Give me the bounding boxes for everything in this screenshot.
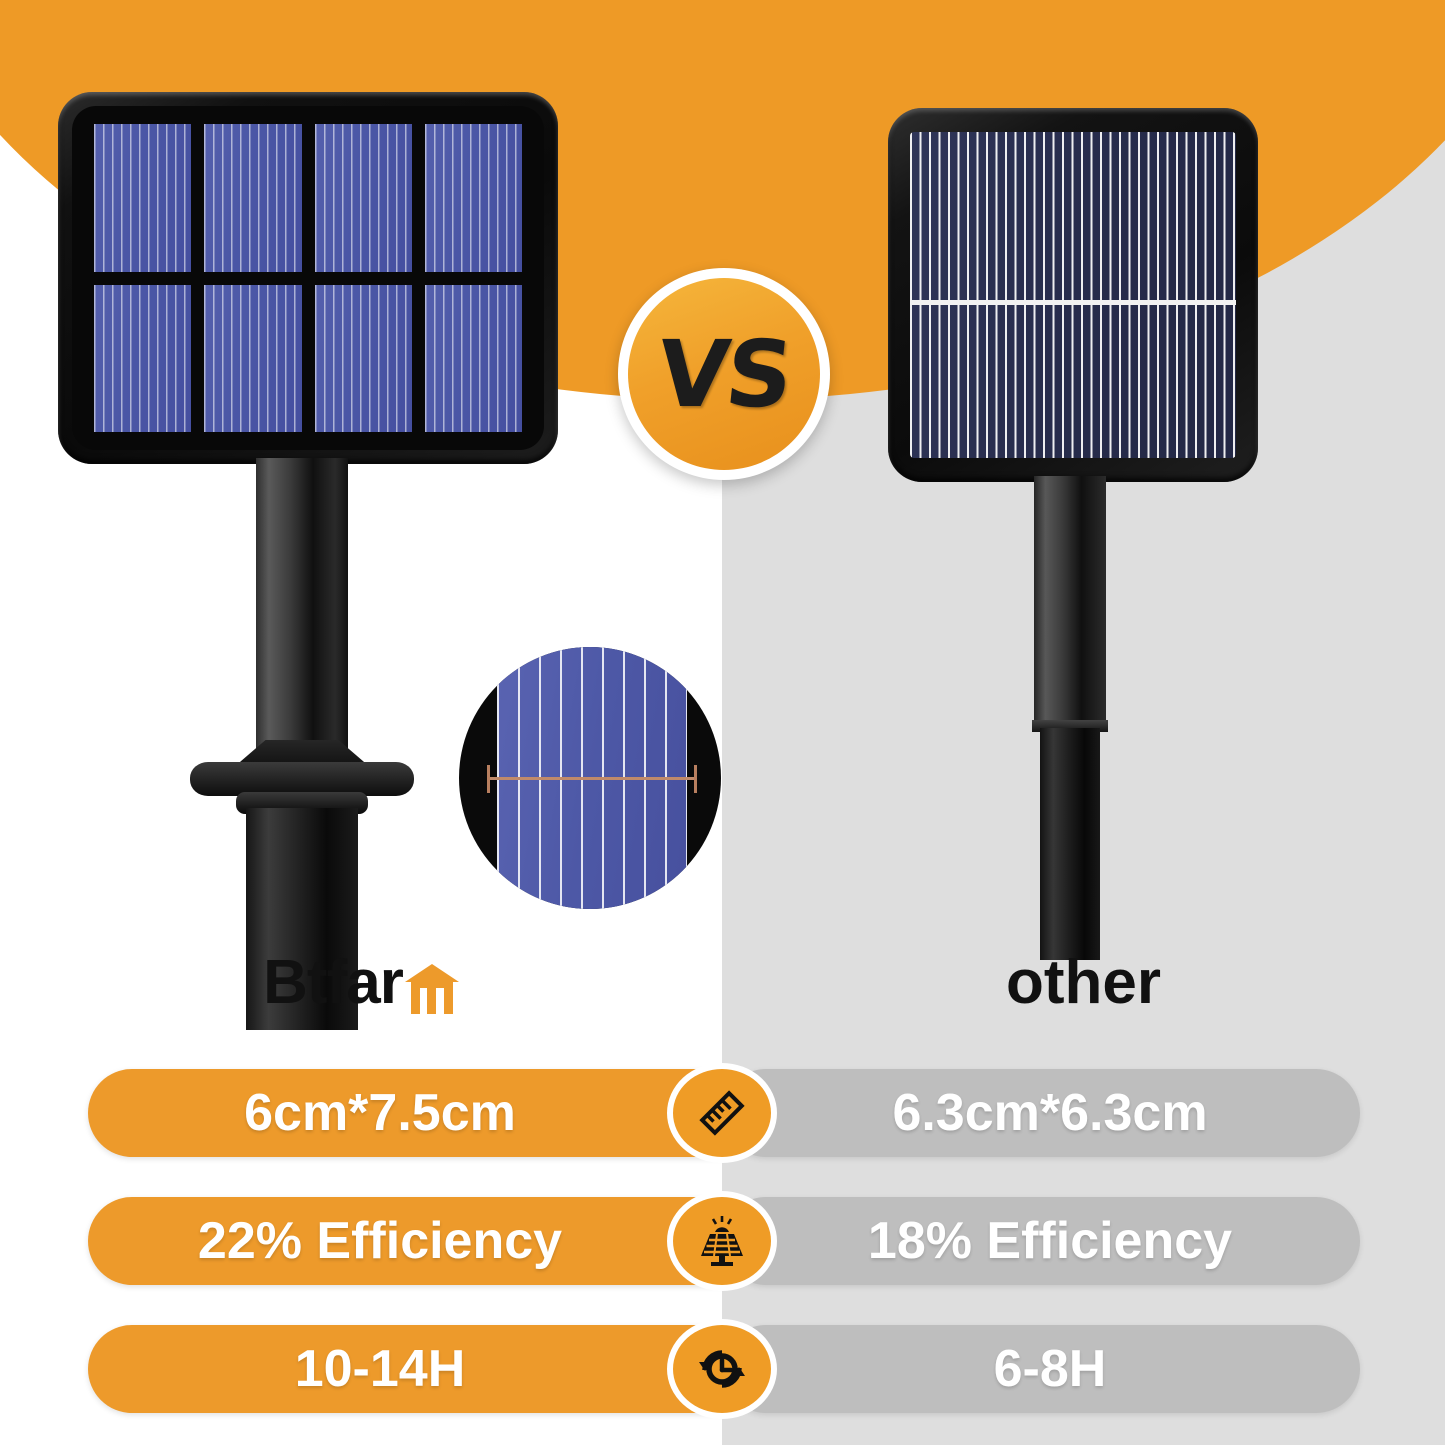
vs-disc: VS [628,278,820,470]
solar-cell [315,124,412,272]
solar-cell [94,285,191,433]
barn-roof [405,964,459,982]
value-right-runtime: 6-8H [780,1325,1320,1413]
clock-refresh-icon [667,1319,777,1419]
solar-panel-icon-disc [673,1197,771,1285]
value-left-runtime: 10-14H [120,1325,640,1413]
solar-panel-frame-left [58,92,558,464]
ruler-icon-disc [673,1069,771,1157]
busbar-tick [694,765,697,793]
solar-panel-frame-right [888,108,1258,482]
ruler-icon [667,1063,777,1163]
flange-wing [190,762,414,796]
mount-flange-left [190,740,414,796]
solar-cell-single-right [910,132,1236,458]
product-image-btfarm [58,92,578,992]
solar-cell [204,285,301,433]
solar-cell [315,285,412,433]
product-image-other [888,108,1268,988]
value-left-efficiency: 22% Efficiency [120,1197,640,1285]
comparison-row-efficiency: 22% Efficiency 18% Efficiency [0,1197,1445,1285]
barn-body [411,981,453,1014]
vs-badge-icon: VS [618,268,830,480]
barn-house-icon [405,964,459,1014]
solar-cell-grid-left [72,106,544,450]
comparison-row-runtime: 10-14H 6-8H [0,1325,1445,1413]
clock-refresh-icon-disc [673,1325,771,1413]
comparison-infographic: VS Btfar other 6cm*7. [0,0,1445,1445]
brand-label-other: other [722,952,1445,1014]
value-left-size: 6cm*7.5cm [120,1069,640,1157]
busbar-tick [487,765,490,793]
solar-cell [204,124,301,272]
magnified-busbar [487,777,697,780]
barn-post [444,981,453,1014]
mount-pole-right [1034,476,1106,724]
comparison-row-size: 6cm*7.5cm 6.3cm*6.3cm [0,1069,1445,1157]
brand-label-btfarm: Btfar [0,952,722,1014]
solar-panel-icon [667,1191,777,1291]
busbar-right [910,300,1236,305]
brand-name-text: Btfar [263,952,403,1014]
value-right-size: 6.3cm*6.3cm [780,1069,1320,1157]
magnified-cell-detail [459,647,721,909]
barn-post [411,981,420,1014]
ground-spike-right [1040,728,1100,960]
mount-pole-left [256,458,348,758]
comparison-rows: 6cm*7.5cm 6.3cm*6.3cm [0,1069,1445,1445]
solar-cell [425,124,522,272]
barn-post [427,981,436,1014]
solar-cell [94,124,191,272]
value-right-efficiency: 18% Efficiency [780,1197,1320,1285]
vs-label: VS [653,321,796,428]
solar-cell [425,285,522,433]
